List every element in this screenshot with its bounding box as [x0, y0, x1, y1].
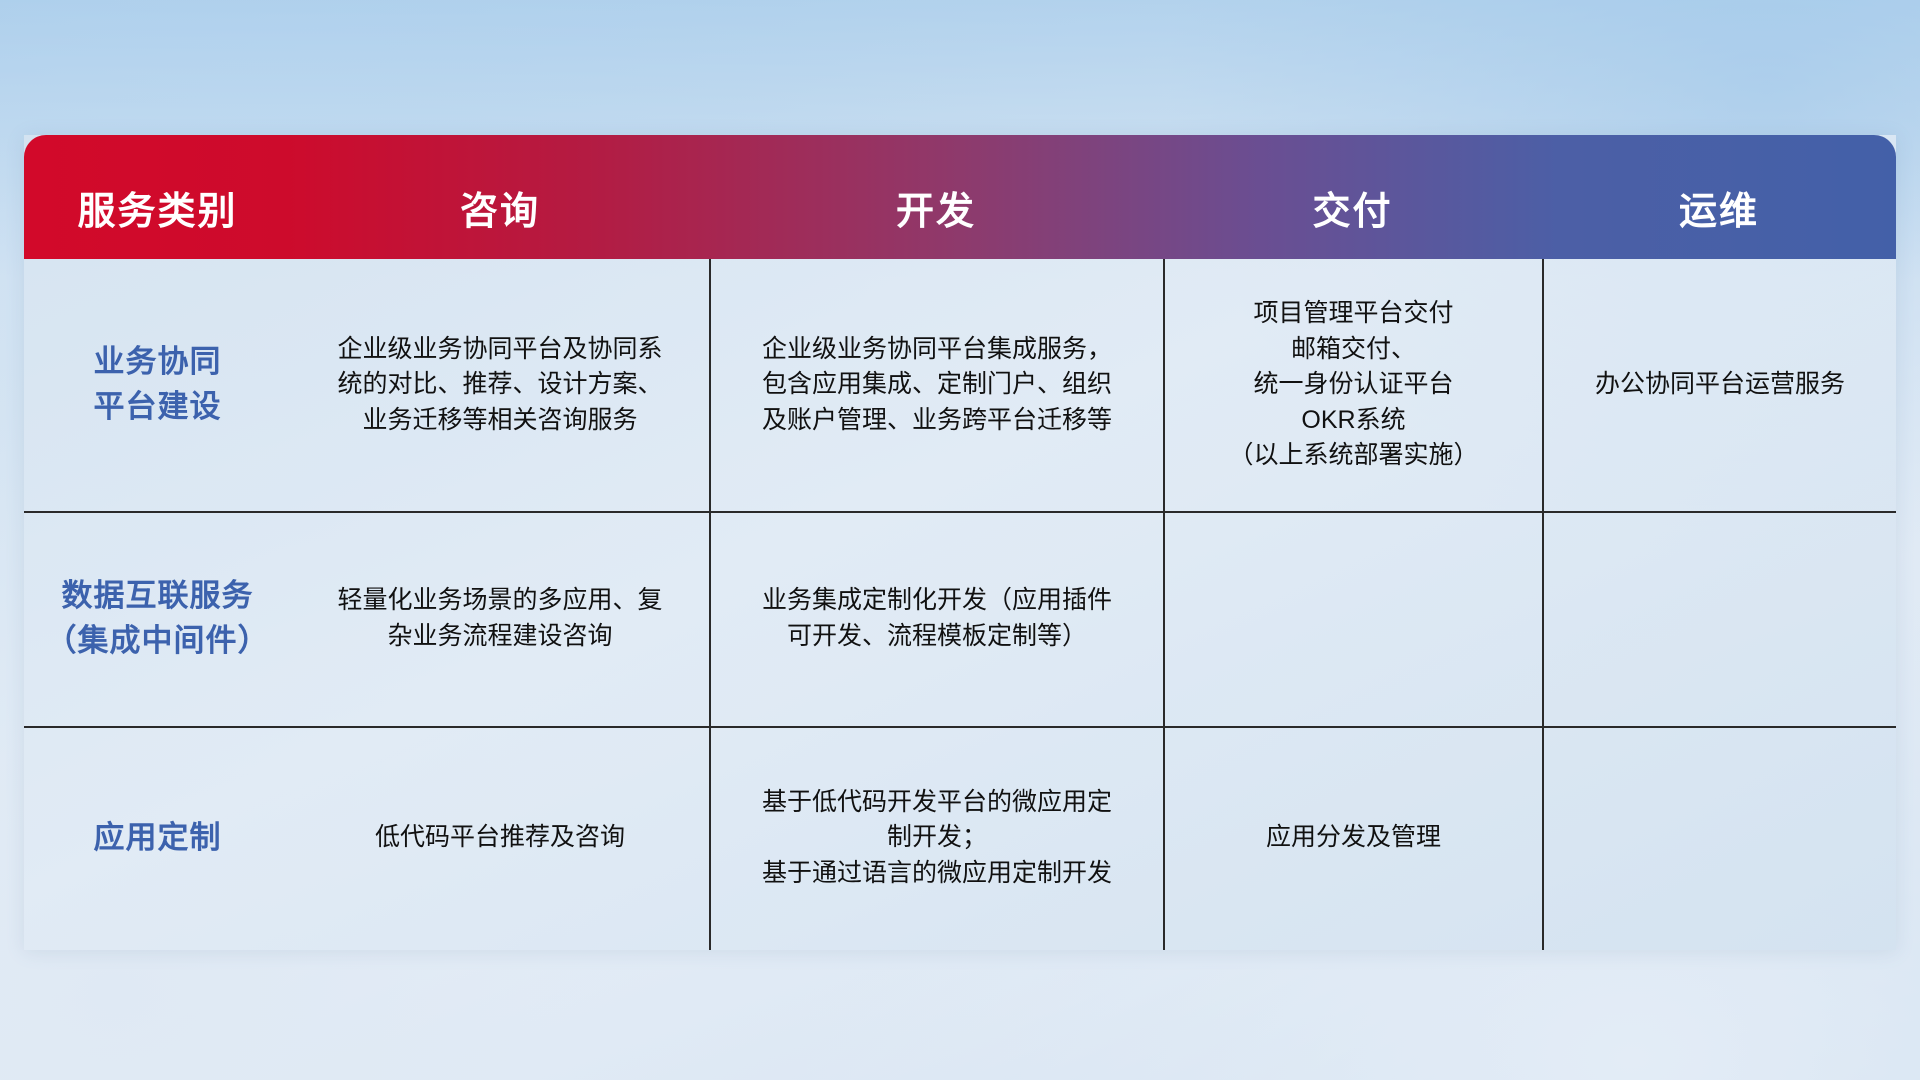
cell-development: 基于低代码开发平台的微应用定 制开发； 基于通过语言的微应用定制开发: [709, 726, 1163, 950]
service-matrix-table: 服务类别 咨询 开发 交付 运维 业务协同 平台建设 企业级业务协同平台及协同系…: [24, 135, 1896, 950]
column-header-operations: 运维: [1542, 180, 1896, 259]
table-body: 业务协同 平台建设 企业级业务协同平台及协同系 统的对比、推荐、设计方案、 业务…: [24, 259, 1896, 950]
column-header-service-category: 服务类别: [24, 180, 291, 259]
cell-delivery: 项目管理平台交付 邮箱交付、 统一身份认证平台 OKR系统 （以上系统部署实施）: [1163, 259, 1542, 511]
cell-development: 企业级业务协同平台集成服务， 包含应用集成、定制门户、组织 及账户管理、业务跨平…: [709, 259, 1163, 511]
cell-consulting: 低代码平台推荐及咨询: [291, 726, 709, 950]
column-header-delivery: 交付: [1163, 180, 1542, 259]
cell-operations: [1542, 726, 1896, 950]
slide-canvas: 服务类别 咨询 开发 交付 运维 业务协同 平台建设 企业级业务协同平台及协同系…: [0, 0, 1920, 1080]
column-header-development: 开发: [709, 180, 1163, 259]
table-row: 应用定制 低代码平台推荐及咨询 基于低代码开发平台的微应用定 制开发； 基于通过…: [24, 726, 1896, 950]
cell-development: 业务集成定制化开发（应用插件 可开发、流程模板定制等）: [709, 511, 1163, 726]
row-category-label: 业务协同 平台建设: [24, 259, 291, 511]
cell-consulting: 轻量化业务场景的多应用、复 杂业务流程建设咨询: [291, 511, 709, 726]
cell-consulting: 企业级业务协同平台及协同系 统的对比、推荐、设计方案、 业务迁移等相关咨询服务: [291, 259, 709, 511]
cell-delivery: [1163, 511, 1542, 726]
table-row: 数据互联服务 （集成中间件） 轻量化业务场景的多应用、复 杂业务流程建设咨询 业…: [24, 511, 1896, 726]
cell-delivery: 应用分发及管理: [1163, 726, 1542, 950]
row-category-label: 应用定制: [24, 726, 291, 950]
column-header-consulting: 咨询: [291, 180, 709, 259]
cell-operations: 办公协同平台运营服务: [1542, 259, 1896, 511]
table-header-row: 服务类别 咨询 开发 交付 运维: [24, 135, 1896, 259]
cell-operations: [1542, 511, 1896, 726]
row-category-label: 数据互联服务 （集成中间件）: [24, 511, 291, 726]
table-row: 业务协同 平台建设 企业级业务协同平台及协同系 统的对比、推荐、设计方案、 业务…: [24, 259, 1896, 511]
